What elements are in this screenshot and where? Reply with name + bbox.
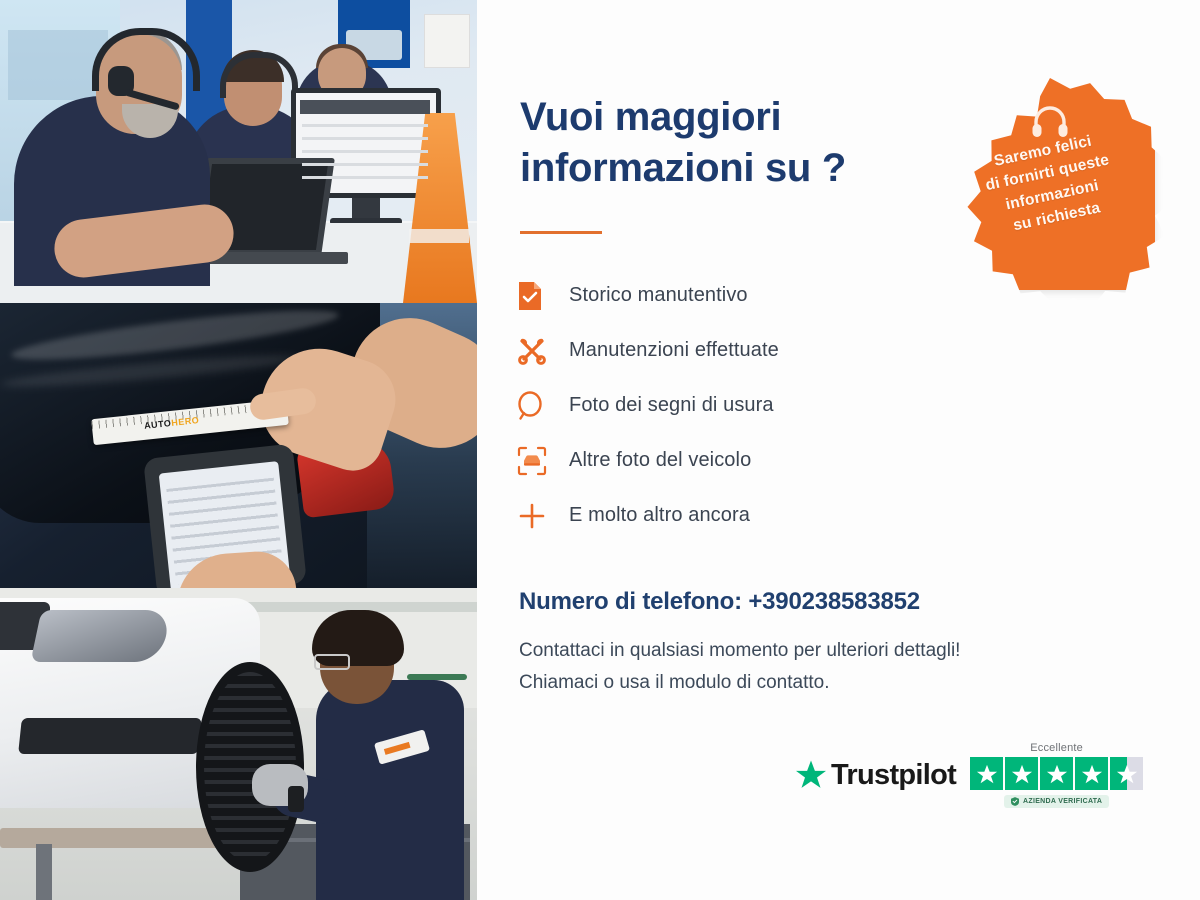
vehicle-inspection-photo: AUTOHERO: [0, 303, 477, 588]
trustpilot-logo: Trustpilot: [795, 759, 956, 792]
star-3: [1040, 757, 1073, 790]
page-title: Vuoi maggiori informazioni su ?: [520, 92, 950, 194]
feature-label: Altre foto del veicolo: [569, 449, 751, 472]
star-2: [1005, 757, 1038, 790]
wall-paper-decor: [424, 14, 470, 68]
magnifier-icon: [517, 391, 569, 421]
document-check-icon: [517, 281, 569, 311]
feature-item-altro: E molto altro ancora: [517, 488, 947, 543]
feature-label: Storico manutentivo: [569, 284, 748, 307]
phone-number-line: Numero di telefono: +390238583852: [519, 588, 920, 616]
star-1: [970, 757, 1003, 790]
feature-item-altre-foto: Altre foto del veicolo: [517, 433, 947, 488]
trustpilot-rating: Eccellente: [970, 742, 1143, 808]
car-lower-grille: [18, 718, 202, 754]
traffic-cone-stripe: [409, 229, 469, 243]
monitor-screen-rows: [302, 124, 428, 180]
monitor-screen-header: [300, 100, 430, 114]
feature-item-foto-usura: Foto dei segni di usura: [517, 378, 947, 433]
agent-two-headset-icon: [220, 52, 298, 98]
workshop-wheel-photo: [0, 588, 477, 900]
verified-company-label: AZIENDA VERIFICATA: [1023, 798, 1102, 805]
feature-item-manutenzioni: Manutenzioni effettuate: [517, 323, 947, 378]
feature-label: E molto altro ancora: [569, 504, 750, 527]
mechanic-glasses: [314, 654, 350, 670]
page-title-line-2: informazioni su ?: [520, 143, 950, 194]
title-underline-rule: [520, 231, 602, 234]
shield-check-icon: [1011, 797, 1019, 806]
feature-label: Manutenzioni effettuate: [569, 339, 779, 362]
car-scan-icon: [517, 446, 569, 476]
trustpilot-star-icon: [795, 759, 827, 791]
star-5-half: [1110, 757, 1143, 790]
content-panel: Vuoi maggiori informazioni su ? Storico …: [477, 0, 1200, 900]
contact-subtext-line-2: Chiamaci o usa il modulo di contatto.: [519, 672, 830, 694]
trustpilot-stars: [970, 757, 1143, 790]
callout-badge: Saremo felici di fornirti queste informa…: [945, 78, 1155, 290]
tools-icon: [517, 336, 569, 366]
feature-item-storico: Storico manutentivo: [517, 268, 947, 323]
car-headlight: [30, 610, 171, 662]
photo-column: AUTOHERO: [0, 0, 477, 900]
mechanic-watch: [288, 786, 304, 812]
trustpilot-rating-label: Eccellente: [1030, 742, 1083, 754]
monitor-stand: [352, 198, 380, 220]
plus-icon: [517, 501, 569, 531]
trustpilot-wordmark: Trustpilot: [831, 759, 956, 792]
star-4: [1075, 757, 1108, 790]
lift-leg: [36, 844, 52, 900]
promo-banner: AUTOHERO: [0, 0, 1200, 900]
verified-company-badge: AZIENDA VERIFICATA: [1004, 795, 1109, 808]
feature-label: Foto dei segni di usura: [569, 394, 774, 417]
trustpilot-widget[interactable]: Trustpilot Eccellente: [795, 742, 1143, 808]
feature-list: Storico manutentivo Manutenzi: [517, 268, 947, 543]
contact-subtext-line-1: Contattaci in qualsiasi momento per ulte…: [519, 640, 960, 662]
page-title-line-1: Vuoi maggiori: [520, 92, 950, 143]
call-center-agents-photo: [0, 0, 477, 303]
